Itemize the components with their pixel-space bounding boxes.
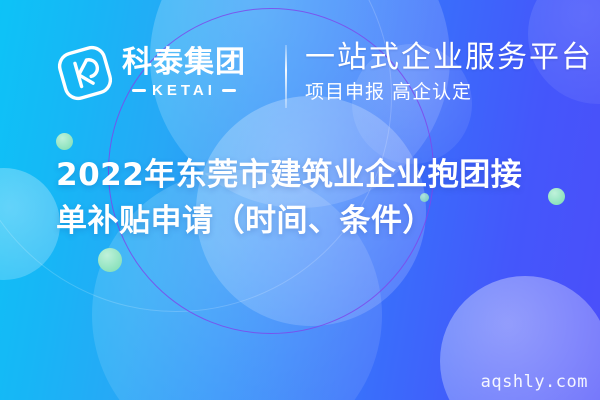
decorative-mint-dot — [98, 248, 122, 272]
ketai-diamond-logo-icon — [54, 42, 116, 104]
header-divider — [285, 45, 287, 108]
slogan-secondary: 项目申报 高企认定 — [305, 80, 593, 104]
brand-name-en-row: KETAI — [122, 82, 246, 99]
banner-title: 2022年东莞市建筑业企业抱团接 单补贴申请（时间、条件） — [56, 152, 566, 244]
header-slogan: 一站式企业服务平台 项目申报 高企认定 — [305, 40, 593, 104]
banner-header: 科泰集团 KETAI 一站式企业服务平台 项目申报 高企认定 — [0, 0, 600, 150]
dash-left-icon — [132, 89, 146, 92]
brand-text: 科泰集团 KETAI — [122, 47, 246, 99]
decorative-circle — [0, 168, 60, 280]
promo-banner: 科泰集团 KETAI 一站式企业服务平台 项目申报 高企认定 2022年东莞市建… — [0, 0, 600, 400]
title-line-2: 单补贴申请（时间、条件） — [56, 198, 566, 244]
brand-name-cn: 科泰集团 — [122, 47, 246, 79]
dash-right-icon — [222, 89, 236, 92]
title-line-1: 2022年东莞市建筑业企业抱团接 — [56, 152, 566, 198]
brand-logo: 科泰集团 KETAI — [54, 42, 246, 104]
site-watermark: aqshly.com — [481, 372, 588, 392]
slogan-primary: 一站式企业服务平台 — [305, 40, 593, 76]
brand-name-en: KETAI — [152, 82, 216, 99]
